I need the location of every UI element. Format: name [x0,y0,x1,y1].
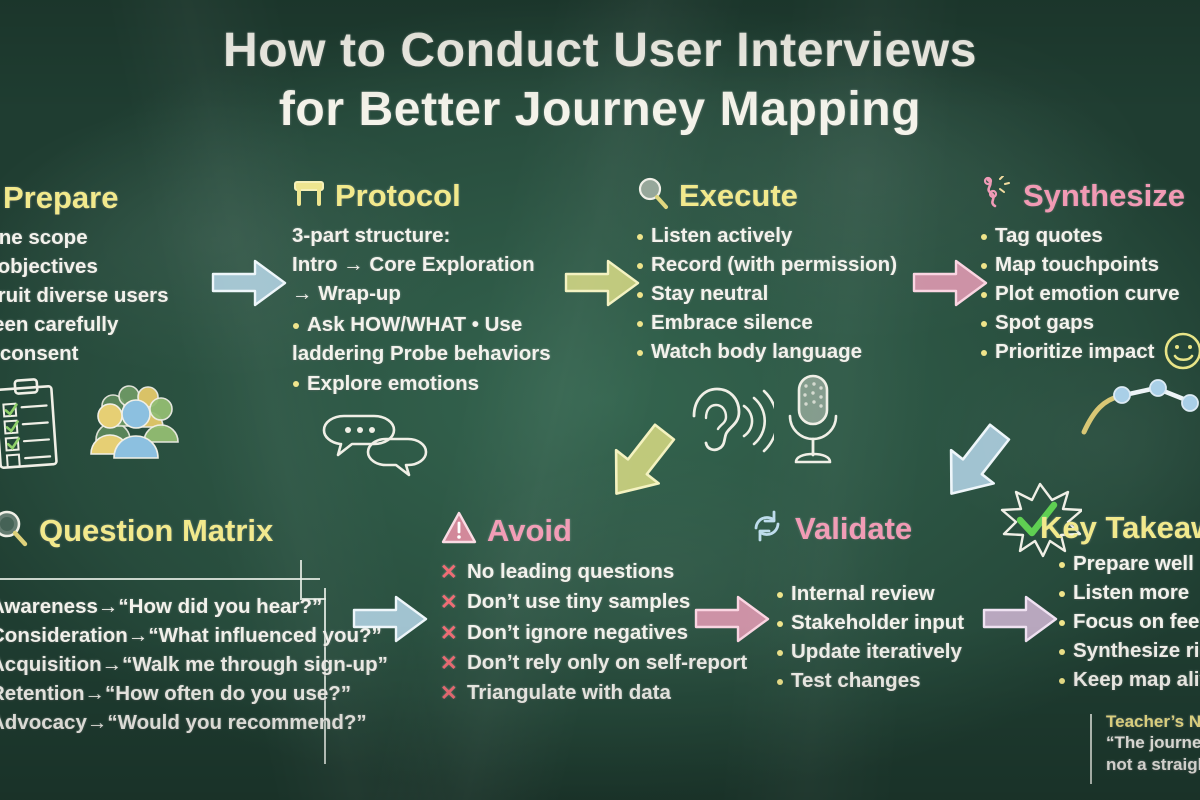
table-row: Consideration→“What influenced you?” [0,621,388,650]
teacher-note-bracket [1090,714,1092,784]
section-question-matrix-header: Question Matrix [0,508,273,553]
matrix-question: “How did you hear?” [118,595,322,618]
refresh-cycle-icon [748,508,786,549]
matrix-grid-hline [0,578,320,580]
list-item: Explore emotions [292,369,551,398]
matrix-arrow: → [128,624,149,647]
section-execute-header: Execute [636,176,897,215]
table-row: Awareness→“How did you hear?” [0,592,388,621]
matrix-question: “Walk me through sign-up” [122,653,388,676]
list-item: Ask HOW/WHAT • Use [292,310,551,339]
matrix-arrow: → [98,595,119,618]
section-prepare-title: Prepare [3,182,118,213]
x-mark-icon: ✕ [440,648,458,679]
protocol-line-3: → Wrap-up [292,279,551,308]
title-line-1: How to Conduct User Interviews [223,24,977,77]
section-protocol-title: Protocol [335,180,461,211]
matrix-rows: Awareness→“How did you hear?” Considerat… [0,592,388,738]
list-item: Watch body language [636,337,897,366]
x-mark-icon: ✕ [440,557,458,588]
list-item: Test changes [776,666,964,695]
list-item: Focus on feelings [1058,607,1200,636]
list-item: ✕No leading questions [440,557,747,587]
list-item-label: Don’t use tiny samples [467,590,690,613]
magnifier-icon [636,176,670,215]
list-item: Define scope [0,223,169,252]
section-synthesize-title: Synthesize [1023,180,1185,211]
warning-triangle-icon [440,510,478,551]
section-prepare-bullets: Define scope Set objectives Recruit dive… [0,223,169,369]
teacher-note-label: Teacher’s Note [1106,712,1200,732]
arrow-execute-to-avoid [583,418,693,519]
list-item: Set objectives [0,252,169,281]
dna-sparkle-icon [980,176,1014,215]
section-execute: Execute Listen actively Record (with per… [636,176,897,367]
teacher-note-quote-line-2: not a straight line.” [1106,754,1200,776]
arrow-matrix-to-avoid [348,588,432,655]
matrix-stage: Retention [0,682,85,705]
list-item: Listen more [1058,578,1200,607]
arrow-protocol-to-execute [560,252,644,319]
speech-bubbles-icon [318,404,428,489]
list-item: Keep map alive [1058,665,1200,694]
x-mark-icon: ✕ [440,587,458,618]
list-item-label: No leading questions [467,560,674,583]
list-item: Listen actively [636,221,897,250]
clipboard-checklist-icon [0,376,70,477]
list-item: Stay neutral [636,279,897,308]
matrix-arrow: → [85,682,106,705]
matrix-arrow: → [102,653,123,676]
matrix-stage: Awareness [0,595,98,618]
section-validate: Validate Internal review Stakeholder inp… [748,508,964,695]
list-item-continuation: laddering Probe behaviors [292,339,551,368]
section-synthesize: Synthesize Tag quotes Map touchpoints Pl… [980,176,1185,367]
section-key-takeaways-bullets: Prepare well Listen more Focus on feelin… [1058,549,1200,695]
table-row: Advocacy→“Would you recommend?” [0,708,388,737]
matrix-stage: Acquisition [0,653,102,676]
section-validate-bullets: Internal review Stakeholder input Update… [776,579,964,695]
list-item: Update iteratively [776,637,964,666]
matrix-question: “How often do you use?” [105,682,351,705]
list-item: Record (with permission) [636,250,897,279]
section-validate-title: Validate [795,513,912,544]
list-item: Embrace silence [636,308,897,337]
matrix-stage: Advocacy [0,711,87,734]
table-row: Retention→“How often do you use?” [0,679,388,708]
matrix-arrow: → [87,711,108,734]
emotion-curve-icon [1078,362,1200,443]
list-item: Internal review [776,579,964,608]
list-item: Spot gaps [980,308,1185,337]
x-mark-icon: ✕ [440,618,458,649]
table-icon [292,176,326,215]
list-item: Synthesize rigorously [1058,636,1200,665]
page-title: How to Conduct User Interviews for Bette… [0,22,1200,139]
section-question-matrix-title: Question Matrix [39,515,273,546]
section-synthesize-bullets: Tag quotes Map touchpoints Plot emotion … [980,221,1185,367]
section-avoid-title: Avoid [487,515,572,546]
arrow-prepare-to-protocol [207,252,291,319]
table-row: Acquisition→“Walk me through sign-up” [0,650,388,679]
section-key-takeaways: Key Takeaways Prepare well Listen more F… [1040,512,1200,695]
section-avoid-header: Avoid [440,510,747,551]
section-protocol-bullets: Ask HOW/WHAT • Use laddering Probe behav… [292,310,551,397]
section-prepare-header: Prepare [0,178,169,217]
section-question-matrix: Question Matrix [0,508,273,559]
section-prepare: Prepare Define scope Set objectives Recr… [0,178,169,369]
magnifier-icon [0,508,30,553]
list-item: Tag quotes [980,221,1185,250]
title-line-2: for Better Journey Mapping [0,81,1200,140]
user-group-icon [88,378,184,467]
section-key-takeaways-header: Key Takeaways [1040,512,1200,543]
section-execute-title: Execute [679,180,798,211]
section-validate-header: Validate [748,508,964,549]
teacher-note-quote-line-1: “The journey is a loop, [1106,732,1200,754]
list-item: Screen carefully [0,310,169,339]
matrix-question: “What influenced you?” [148,624,381,647]
list-item: Recruit diverse users [0,281,169,310]
list-item-label: Triangulate with data [467,681,671,704]
x-mark-icon: ✕ [440,678,458,709]
section-protocol-header: Protocol [292,176,551,215]
protocol-line-1: 3-part structure: [292,221,551,250]
matrix-question: “Would you recommend?” [107,711,366,734]
list-item: Map touchpoints [980,250,1185,279]
list-item: Plot emotion curve [980,279,1185,308]
matrix-stage: Consideration [0,624,128,647]
section-key-takeaways-title: Key Takeaways [1040,512,1200,543]
microphone-icon [778,370,848,475]
list-item: Prepare well [1058,549,1200,578]
section-protocol: Protocol 3-part structure: Intro → Core … [292,176,551,398]
list-item: Stakeholder input [776,608,964,637]
teacher-note: Teacher’s Note “The journey is a loop, n… [1090,712,1200,776]
section-execute-bullets: Listen actively Record (with permission)… [636,221,897,367]
chalkboard-canvas: How to Conduct User Interviews for Bette… [0,0,1200,800]
list-item: Get consent [0,339,169,368]
protocol-line-2: Intro → Core Exploration [292,250,551,279]
list-item-label: Don’t ignore negatives [467,621,688,644]
list-item: ✕Triangulate with data [440,678,747,708]
section-synthesize-header: Synthesize [980,176,1185,215]
